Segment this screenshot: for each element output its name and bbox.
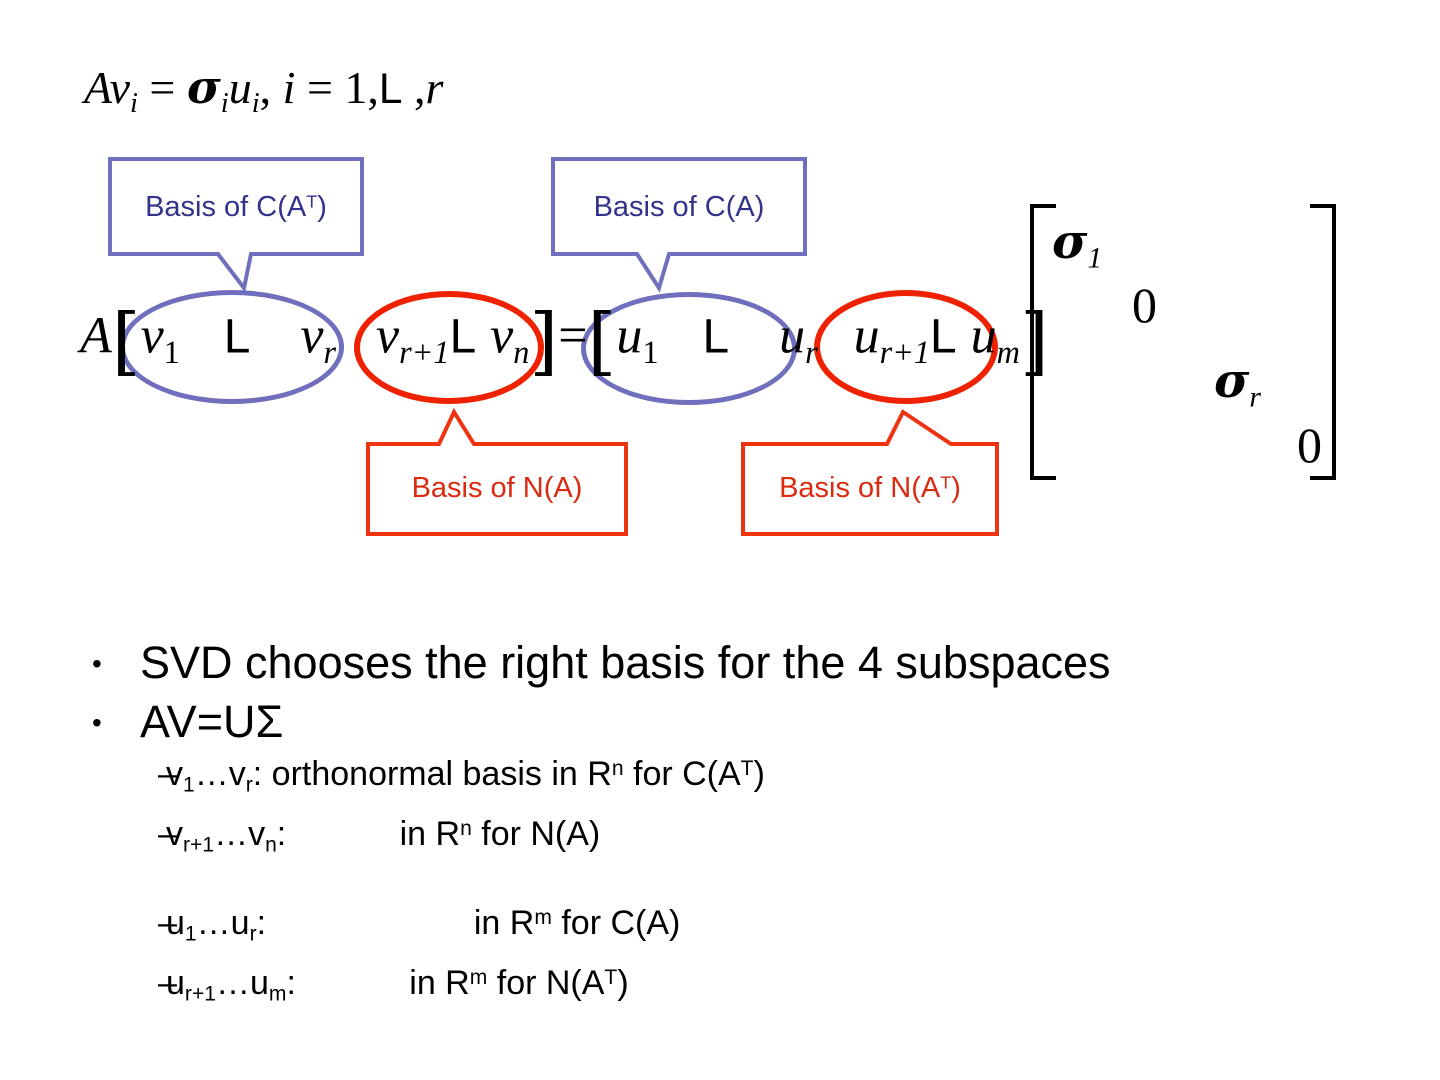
vr1-symbol: v [376,308,399,365]
callout-text-main: Basis of N(A) [412,472,583,504]
comma-1: , [260,62,272,113]
bullet-glyph: • [92,696,102,749]
ur1-symbol: u [854,308,880,365]
callout-label-basis-of-n-at: Basis of N(AT) [741,472,999,505]
sub4-superscript-a: m [470,966,488,989]
bullet-item-2: •AV=UΣ [78,695,1398,748]
equals-sign: = [149,62,175,113]
sub4-mid: : in R [286,964,469,1002]
sub4-subscript-a: r+1 [185,982,216,1005]
equals-sign-2: = [307,62,333,113]
zero-upper: 0 [1132,277,1157,333]
callout-label-basis-of-c-at: Basis of C(AT) [108,191,364,224]
ur-symbol: u [779,308,805,365]
callout-basis-of-c-a[interactable]: Basis of C(A) [551,157,807,289]
vr-symbol: v [300,308,323,365]
dash-glyph: – [158,963,177,1004]
callout-label-basis-of-n-a: Basis of N(A) [366,472,628,505]
sigma-matrix: σ1 0 σr 0 [1022,202,1342,482]
bullet-item-1: •SVD chooses the right basis for the 4 s… [78,636,1398,689]
sub1-tail: ) [754,755,765,793]
callout-basis-of-n-a[interactable]: Basis of N(A) [366,410,628,536]
bracket-open-1: [ [112,298,141,384]
sub1-superscript-a: n [612,757,624,780]
sub2-subscript-b: n [265,833,277,856]
vector-v-symbol: v [110,62,130,113]
vector-u-symbol: u [229,62,252,113]
sub1-mid: : orthonormal basis in R [253,755,612,793]
callout-basis-of-c-at[interactable]: Basis of C(AT) [108,157,364,289]
main-equation: A[v1Lvrvr+1Lvn]=[u1Lurur+1Lum] [80,305,1049,379]
bullet-text-1: SVD chooses the right basis for the 4 su… [140,637,1111,688]
sigma-r-symbol: σ [1214,353,1249,409]
comma-2: , [414,62,426,113]
callout-text-superscript: T [306,192,317,212]
callout-basis-of-n-at[interactable]: Basis of N(AT) [741,410,999,536]
sub2-post: for N(A) [472,815,600,853]
matrix-A-symbol-main: A [80,308,112,365]
sigma-matrix-cell-3: σr [1214,357,1261,412]
sub1-dots: …v [195,755,246,793]
sub3-superscript-a: m [534,906,552,929]
vn-subscript: n [513,334,529,370]
index-i-symbol: i [283,62,296,113]
sub3-subscript-b: r [250,923,257,946]
callout-text-main: Basis of C(A [145,191,306,223]
sigma-matrix-cell-2: 0 [1132,280,1157,330]
sub2-subscript-a: r+1 [183,833,214,856]
ellipsis-glyph-3: L [450,311,477,364]
sub-bullet-item-2: –vr+1…vn: in Rn for N(A) [78,814,1398,858]
top-equation: Avi = σiui, i = 1,L ,r [84,64,443,119]
sub4-tail: ) [617,964,628,1002]
sub3-mid: : in R [257,904,535,942]
dash-glyph: – [158,814,177,855]
vector-v-subscript: i [130,88,138,119]
sigma-matrix-cell-4: 0 [1297,420,1322,470]
ur-subscript: r [805,334,818,370]
vr1-subscript: r+1 [399,334,449,370]
ellipsis-glyph-4: L [702,311,729,364]
rank-r-symbol: r [425,62,443,113]
sub1-post: for C(A [624,755,741,793]
sub3-dots: …u [197,904,250,942]
bracket-open-2: [ [588,298,617,384]
um-subscript: m [997,334,1020,370]
sub2-mid: : in R [277,815,460,853]
ellipsis-glyph-1: L [379,65,403,112]
sub4-superscript-b: T [604,966,617,989]
sub3-post: for C(A) [552,904,680,942]
bullet-list: •SVD chooses the right basis for the 4 s… [78,636,1398,1023]
dash-glyph: – [158,754,177,795]
callout-text-superscript: T [940,473,951,493]
sub4-dots: …u [216,964,269,1002]
sub-bullet-item-3: –u1…ur: in Rm for C(A) [78,903,1398,947]
sub-bullet-item-1: –v1…vr: orthonormal basis in Rn for C(AT… [78,754,1398,798]
um-symbol: u [971,308,997,365]
v1-symbol: v [141,308,164,365]
sigma-symbol: σ [187,60,221,114]
callout-text-main: Basis of N(A [779,472,940,504]
u1-symbol: u [616,308,642,365]
sub1-subscript-b: r [246,774,253,797]
zero-lower: 0 [1297,417,1322,473]
sigma-r-subscript: r [1249,381,1261,414]
matrix-A-symbol: A [84,62,110,113]
sub-bullet-item-4: –ur+1…um: in Rm for N(AT) [78,963,1398,1007]
ellipsis-glyph-5: L [930,311,957,364]
vector-u-subscript: i [252,88,260,119]
sigma-1-symbol: σ [1052,214,1087,270]
callout-text-tail: ) [317,191,327,223]
u1-subscript: 1 [642,334,658,370]
bullet-text-2: AV=UΣ [140,696,283,747]
one-literal: 1, [344,62,379,113]
bullet-glyph: • [92,637,102,690]
v1-subscript: 1 [164,334,180,370]
sub3-subscript-a: 1 [185,923,197,946]
sub1-subscript-a: 1 [183,774,195,797]
sub4-post: for N(A [487,964,604,1002]
sub1-superscript-b: T [741,757,754,780]
ur1-subscript: r+1 [880,334,930,370]
sub2-dots: …v [214,815,265,853]
sigma-1-subscript: 1 [1087,242,1102,275]
ellipsis-glyph-2: L [224,311,251,364]
callout-label-basis-of-c-a: Basis of C(A) [551,191,807,224]
vr-subscript: r [324,334,337,370]
callout-text-tail: ) [951,472,961,504]
sigma-subscript: i [221,88,229,119]
equals-sign-main: = [558,308,587,365]
sub2-superscript-a: n [460,817,472,840]
vn-symbol: v [490,308,513,365]
sub4-subscript-b: m [269,982,287,1005]
bracket-close-1: ] [529,298,558,384]
callout-text-main: Basis of C(A) [594,191,765,223]
list-spacer [78,873,1398,903]
slide-canvas: Avi = σiui, i = 1,L ,r Basis of C(AT) Ba… [0,0,1440,1080]
sigma-matrix-cell-1: σ1 [1052,218,1102,273]
dash-glyph: – [158,903,177,944]
